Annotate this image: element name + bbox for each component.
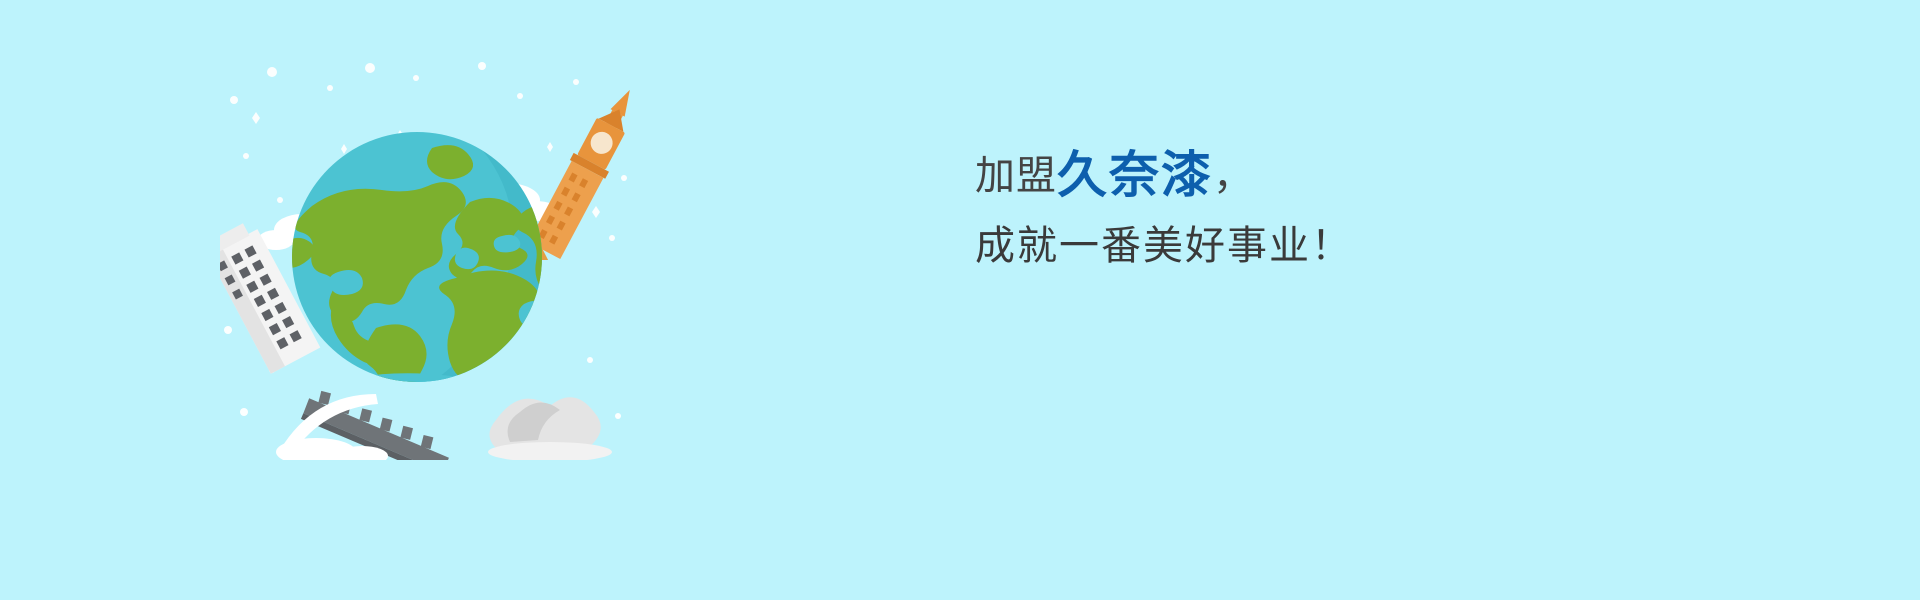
- headline-prefix: 加盟: [975, 153, 1057, 199]
- promo-banner: 加盟久奈漆， 成就一番美好事业！: [0, 0, 1920, 600]
- brand-name: 久奈漆: [1057, 146, 1213, 204]
- headline-line-2: 成就一番美好事业！: [975, 226, 1695, 266]
- headline-block: 加盟久奈漆， 成就一番美好事业！: [975, 150, 1695, 266]
- headline-comma: ，: [1213, 153, 1254, 199]
- world-globe-illustration: [220, 60, 640, 460]
- rocks-icon: [488, 397, 612, 460]
- globe-icon: [275, 124, 582, 434]
- headline-line-1: 加盟久奈漆，: [975, 150, 1695, 200]
- big-ben-icon: [527, 81, 640, 260]
